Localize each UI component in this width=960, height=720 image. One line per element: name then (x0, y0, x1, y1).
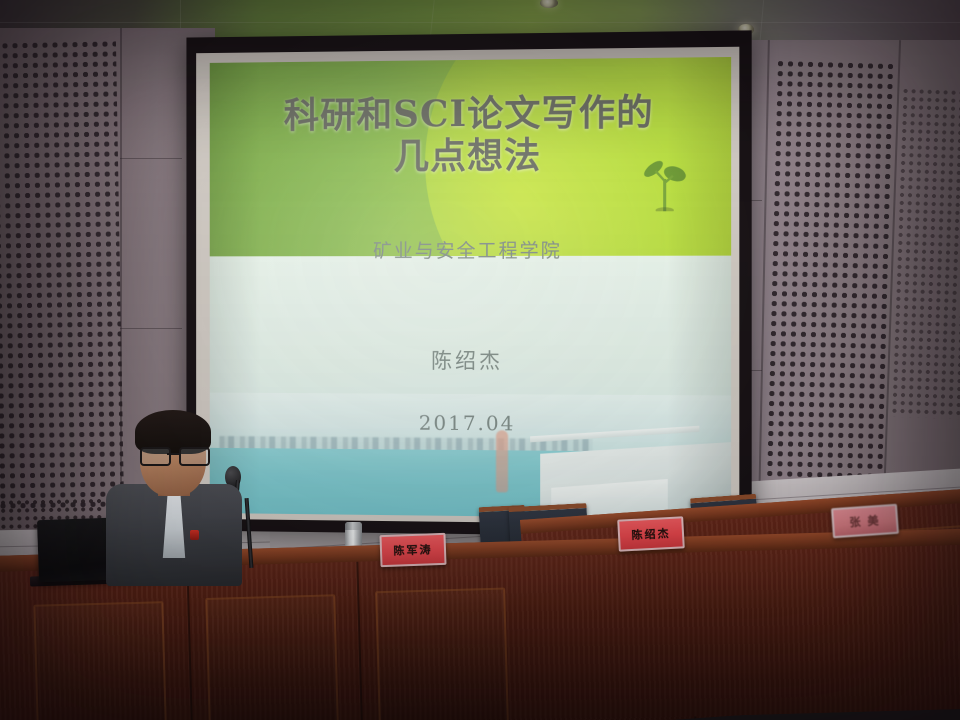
acoustic-panel-right-far (890, 87, 960, 419)
glasses-icon (140, 447, 206, 462)
lecture-hall-photo: 科研和SCI论文写作的 几点想法 矿业与安全工程学院 陈绍杰 2017.04 (0, 0, 960, 720)
acoustic-panel-right (764, 59, 893, 492)
table-panel (375, 588, 509, 720)
nameplate: 陈绍杰 (617, 516, 685, 551)
slide-body (210, 256, 731, 519)
lapel-badge (190, 530, 199, 540)
ceiling-spotlight (540, 0, 558, 8)
thermos-lid (345, 522, 362, 530)
nameplate-text: 张 美 (849, 512, 881, 530)
presenter (106, 414, 242, 586)
slide-title-line2: 几点想法 (210, 134, 731, 179)
nameplate-text: 陈绍杰 (631, 525, 671, 543)
slide-surface: 科研和SCI论文写作的 几点想法 矿业与安全工程学院 陈绍杰 2017.04 (210, 57, 731, 519)
slide-subtitle: 矿业与安全工程学院 (210, 235, 731, 263)
presentation-slide: 科研和SCI论文写作的 几点想法 矿业与安全工程学院 陈绍杰 2017.04 (210, 57, 731, 519)
slide-title: 科研和SCI论文写作的 几点想法 (210, 92, 731, 179)
projection-screen: 科研和SCI论文写作的 几点想法 矿业与安全工程学院 陈绍杰 2017.04 (186, 30, 751, 537)
table-panel (205, 594, 339, 720)
nameplate-text: 陈军涛 (393, 541, 433, 558)
slide-date: 2017.04 (210, 409, 731, 437)
slide-presenter-name: 陈绍杰 (210, 344, 731, 376)
slide-title-line1: 科研和SCI论文写作的 (210, 92, 731, 138)
nameplate: 陈军涛 (379, 533, 446, 567)
nameplate: 张 美 (831, 504, 899, 539)
table-panel (33, 601, 167, 720)
photo-person (496, 431, 508, 492)
